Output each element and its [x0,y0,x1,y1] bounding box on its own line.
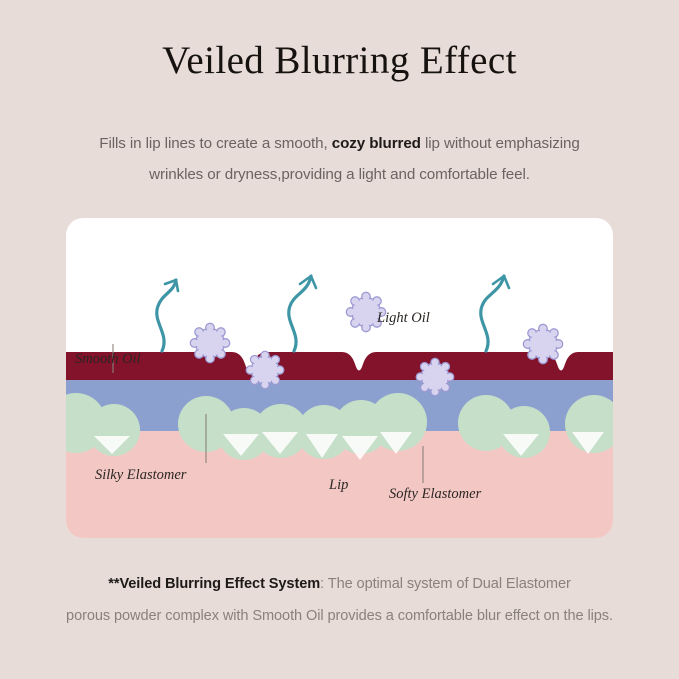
oil-particle [190,323,229,362]
diagram-card: Smooth Oil Light Oil Silky Elastomer Lip… [66,218,613,538]
label-smooth-oil: Smooth Oil [75,351,141,368]
footer-line1-rest: : The optimal system of Dual Elastomer [320,576,571,592]
label-light-oil: Light Oil [377,310,430,327]
subtitle-line1-after: lip without emphasizing [421,135,580,152]
subtitle-line1-before: Fills in lip lines to create a smooth, [99,135,331,152]
subtitle-text: Fills in lip lines to create a smooth, c… [50,128,629,190]
label-silky-elastomer: Silky Elastomer [95,467,186,484]
subtitle-line2: wrinkles or dryness,providing a light an… [149,166,530,183]
label-lip: Lip [329,477,348,494]
page-title: Veiled Blurring Effect [0,38,679,83]
subtitle-highlight: cozy blurred [332,135,421,152]
footer-caption: **Veiled Blurring Effect System: The opt… [40,568,639,632]
oil-particle [246,351,284,389]
oil-particle [416,358,454,396]
label-softy-elastomer: Softy Elastomer [389,486,481,503]
infographic-page: Veiled Blurring Effect Fills in lip line… [0,0,679,679]
footer-bold-label: **Veiled Blurring Effect System [108,576,320,592]
oil-particle [523,324,562,363]
footer-line2: porous powder complex with Smooth Oil pr… [66,608,613,624]
